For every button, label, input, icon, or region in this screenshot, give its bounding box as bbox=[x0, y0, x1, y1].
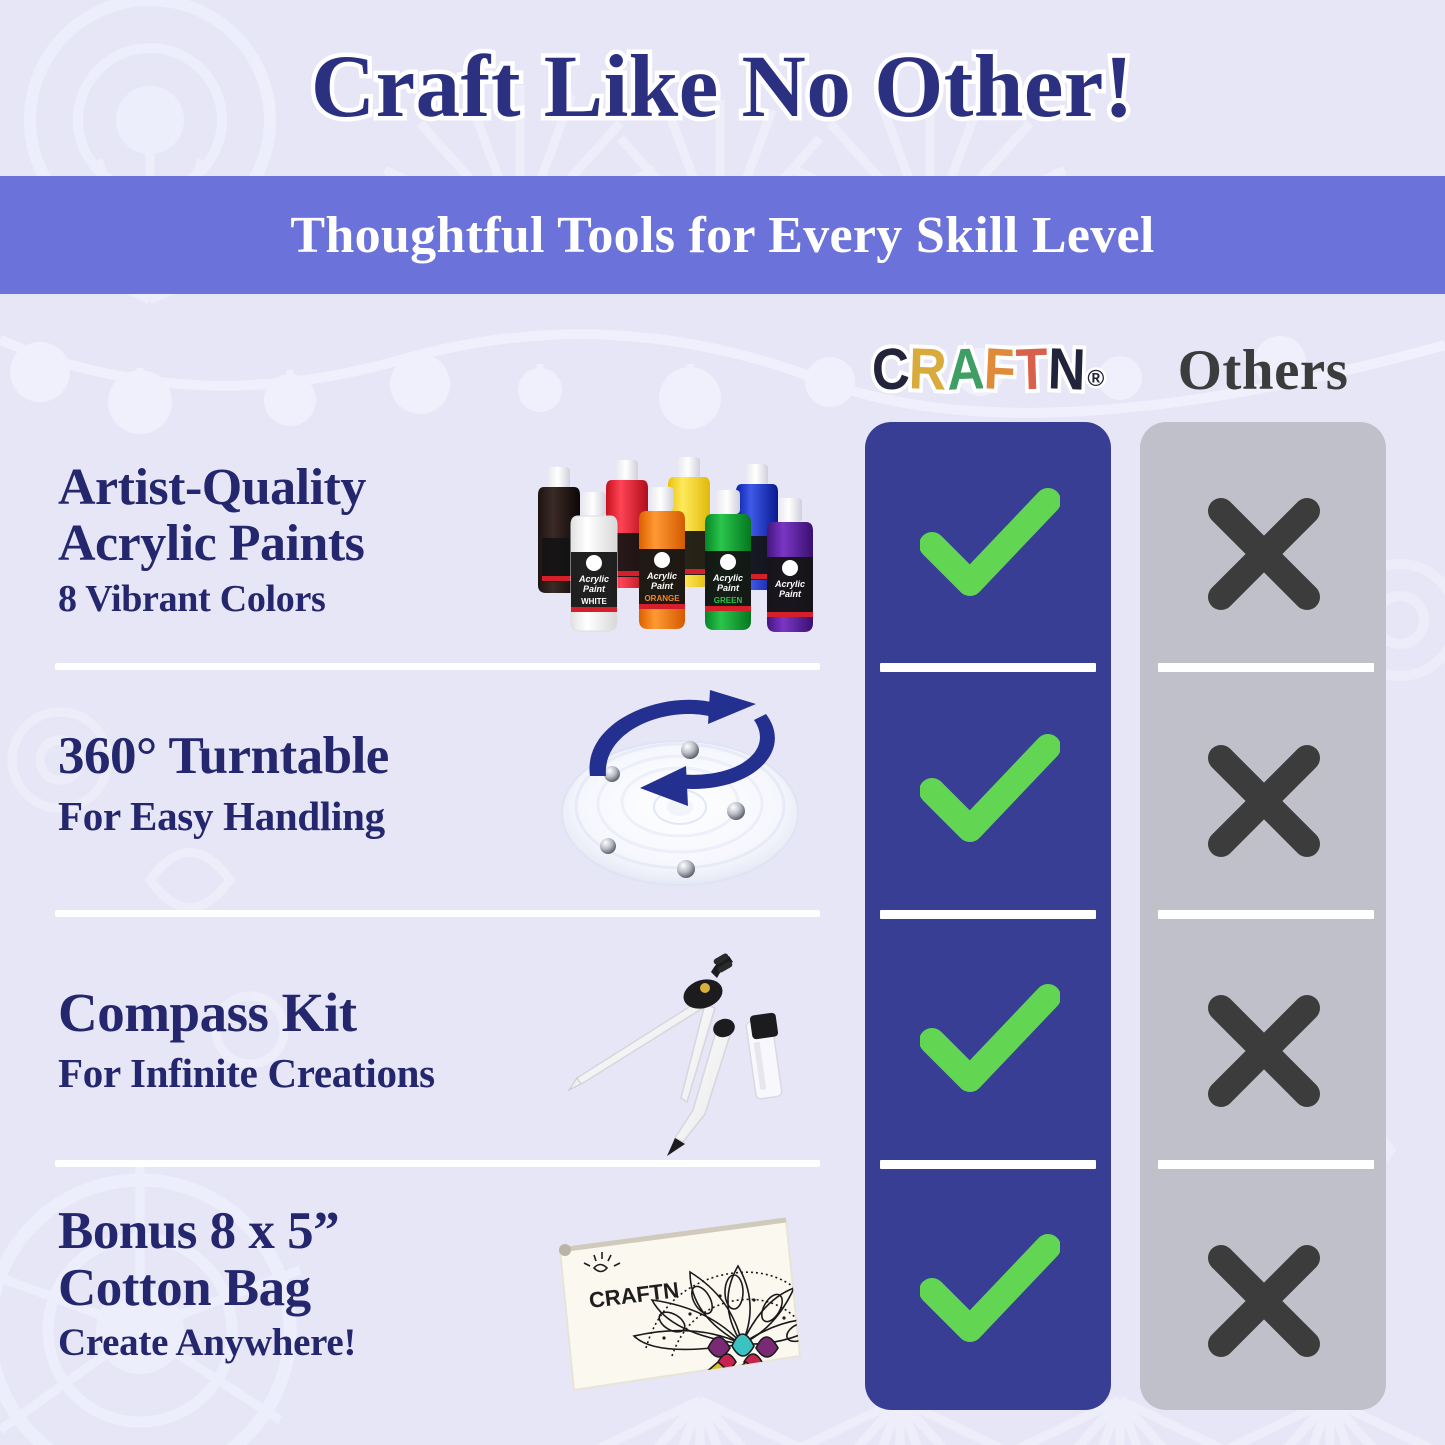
feature-text-1: Artist-Quality Acrylic Paints 8 Vibrant … bbox=[58, 462, 488, 620]
feature-title-2-line1: 360° Turntable bbox=[58, 730, 498, 783]
check-icon-row-1 bbox=[920, 487, 1060, 597]
acrylic-paint-bottles-image: Acrylic Paint WHITE Acrylic Paint ORANGE… bbox=[520, 430, 820, 665]
cross-icon-row-4 bbox=[1205, 1242, 1323, 1360]
feature-row-divider-2 bbox=[55, 910, 820, 917]
logo-letter-f: F bbox=[983, 340, 1017, 400]
feature-title-1-line2: Acrylic Paints bbox=[58, 518, 488, 570]
svg-text:Paint: Paint bbox=[583, 584, 606, 594]
cross-icon-row-3 bbox=[1205, 992, 1323, 1110]
feature-title-4-line2: Cotton Bag bbox=[58, 1262, 498, 1315]
column-divider-others-3 bbox=[1158, 1160, 1374, 1169]
cross-icon-row-2 bbox=[1205, 742, 1323, 860]
svg-text:ORANGE: ORANGE bbox=[644, 594, 680, 603]
page-title: Craft Like No Other! bbox=[311, 43, 1134, 132]
feature-title-3-line1: Compass Kit bbox=[58, 985, 518, 1040]
feature-text-4: Bonus 8 x 5” Cotton Bag Create Anywhere! bbox=[58, 1205, 498, 1364]
rotating-turntable-image bbox=[540, 678, 825, 900]
svg-text:Paint: Paint bbox=[779, 589, 802, 599]
feature-subtitle-1: 8 Vibrant Colors bbox=[58, 580, 488, 620]
logo-letter-a: A bbox=[946, 340, 985, 400]
check-icon-row-3 bbox=[920, 983, 1060, 1093]
svg-text:WHITE: WHITE bbox=[581, 597, 607, 606]
registered-trademark-icon: ® bbox=[1087, 367, 1104, 390]
svg-text:Paint: Paint bbox=[717, 583, 740, 593]
svg-text:Acrylic: Acrylic bbox=[578, 574, 609, 584]
subtitle-banner: Thoughtful Tools for Every Skill Level bbox=[0, 176, 1445, 294]
column-header-others: Others bbox=[1140, 330, 1386, 410]
cotton-tote-bag-image: CRAFTN bbox=[528, 1208, 828, 1408]
feature-subtitle-2: For Easy Handling bbox=[58, 795, 498, 838]
svg-text:Acrylic: Acrylic bbox=[712, 573, 743, 583]
logo-letter-c: C bbox=[870, 340, 910, 400]
banner-subtitle: Thoughtful Tools for Every Skill Level bbox=[290, 206, 1154, 265]
feature-subtitle-4: Create Anywhere! bbox=[58, 1323, 498, 1364]
check-icon-row-4 bbox=[920, 1233, 1060, 1343]
feature-title-1-line1: Artist-Quality bbox=[58, 462, 488, 514]
column-divider-craftn-1 bbox=[880, 663, 1096, 672]
others-label: Others bbox=[1178, 338, 1349, 403]
column-header-craftn: C R A F T N ® bbox=[865, 330, 1111, 410]
column-divider-craftn-3 bbox=[880, 1160, 1096, 1169]
svg-text:GREEN: GREEN bbox=[714, 596, 743, 605]
cross-icon-row-1 bbox=[1205, 495, 1323, 613]
column-divider-others-2 bbox=[1158, 910, 1374, 919]
column-divider-craftn-2 bbox=[880, 910, 1096, 919]
column-divider-others-1 bbox=[1158, 663, 1374, 672]
svg-text:Paint: Paint bbox=[651, 581, 674, 591]
compass-kit-image bbox=[545, 950, 835, 1170]
logo-letter-t: T bbox=[1015, 340, 1049, 399]
logo-letter-r: R bbox=[908, 340, 947, 400]
check-icon-row-2 bbox=[920, 733, 1060, 843]
feature-title-4-line1: Bonus 8 x 5” bbox=[58, 1205, 498, 1258]
svg-text:Acrylic: Acrylic bbox=[774, 579, 805, 589]
feature-subtitle-3: For Infinite Creations bbox=[58, 1052, 518, 1095]
craftn-logo: C R A F T N ® bbox=[872, 344, 1105, 396]
header-title-area: Craft Like No Other! bbox=[0, 0, 1445, 175]
logo-letter-n: N bbox=[1047, 340, 1086, 400]
svg-text:Acrylic: Acrylic bbox=[646, 571, 677, 581]
feature-text-2: 360° Turntable For Easy Handling bbox=[58, 730, 498, 838]
feature-text-3: Compass Kit For Infinite Creations bbox=[58, 985, 518, 1095]
